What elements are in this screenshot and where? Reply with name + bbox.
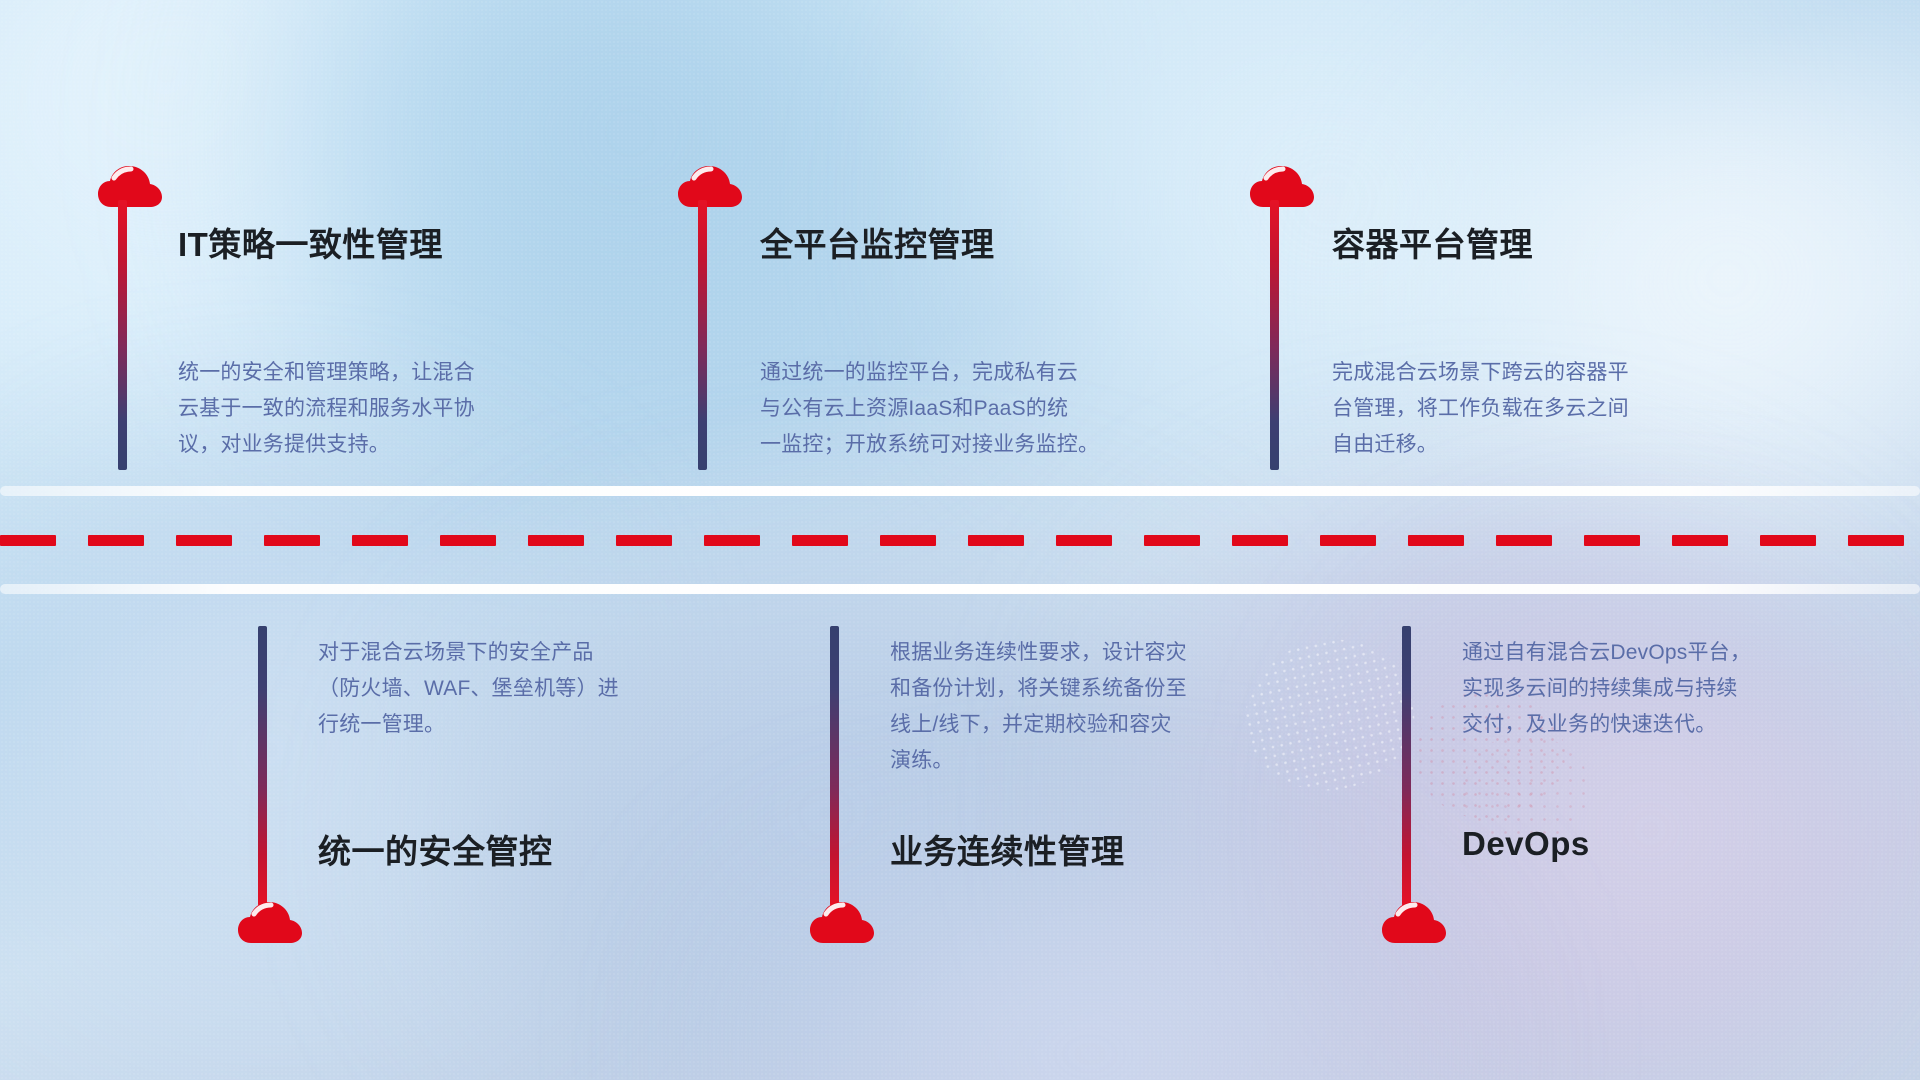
connector-stem [698, 200, 707, 470]
divider-dash [176, 535, 232, 546]
divider-dash [1848, 535, 1904, 546]
divider-rail-top [0, 486, 1920, 496]
divider-dash [1408, 535, 1464, 546]
feature-heading: IT策略一致性管理 [178, 218, 443, 266]
feature-description: 根据业务连续性要求，设计容灾 和备份计划，将关键系统备份至 线上/线下，并定期校… [890, 635, 1330, 779]
dashed-line [0, 535, 1920, 546]
divider-dash [880, 535, 936, 546]
divider-dash [88, 535, 144, 546]
feature-description: 对于混合云场景下的安全产品 （防火墙、WAF、堡垒机等）进 行统一管理。 [318, 635, 748, 743]
feature-heading: 业务连续性管理 [890, 825, 1125, 873]
feature-heading: 容器平台管理 [1332, 218, 1533, 266]
feature-heading: DevOps [1462, 825, 1590, 863]
divider-dash [1584, 535, 1640, 546]
divider-dash [968, 535, 1024, 546]
connector-stem [1270, 200, 1279, 470]
connector-stem [830, 626, 839, 906]
divider-dash [1144, 535, 1200, 546]
connector-stem [258, 626, 267, 906]
feature-description: 通过统一的监控平台，完成私有云 与公有云上资源IaaS和PaaS的统 一监控；开… [760, 355, 1210, 463]
divider-dash [616, 535, 672, 546]
divider-dash [1056, 535, 1112, 546]
feature-heading: 统一的安全管控 [318, 825, 553, 873]
divider-dash [1320, 535, 1376, 546]
feature-heading: 全平台监控管理 [760, 218, 995, 266]
divider-dash [1496, 535, 1552, 546]
divider-dash [528, 535, 584, 546]
divider-dash [352, 535, 408, 546]
divider-dash [440, 535, 496, 546]
divider [0, 486, 1920, 594]
divider-dash [0, 535, 56, 546]
divider-dash [704, 535, 760, 546]
feature-description: 统一的安全和管理策略，让混合 云基于一致的流程和服务水平协 议，对业务提供支持。 [178, 355, 608, 463]
divider-dash [792, 535, 848, 546]
connector-stem [118, 200, 127, 470]
feature-description: 完成混合云场景下跨云的容器平 台管理，将工作负载在多云之间 自由迁移。 [1332, 355, 1762, 463]
divider-dash [1760, 535, 1816, 546]
divider-dash [264, 535, 320, 546]
divider-dash [1232, 535, 1288, 546]
feature-description: 通过自有混合云DevOps平台， 实现多云间的持续集成与持续 交付，及业务的快速… [1462, 635, 1892, 743]
divider-dash [1672, 535, 1728, 546]
connector-stem [1402, 626, 1411, 906]
divider-rail-bottom [0, 584, 1920, 594]
